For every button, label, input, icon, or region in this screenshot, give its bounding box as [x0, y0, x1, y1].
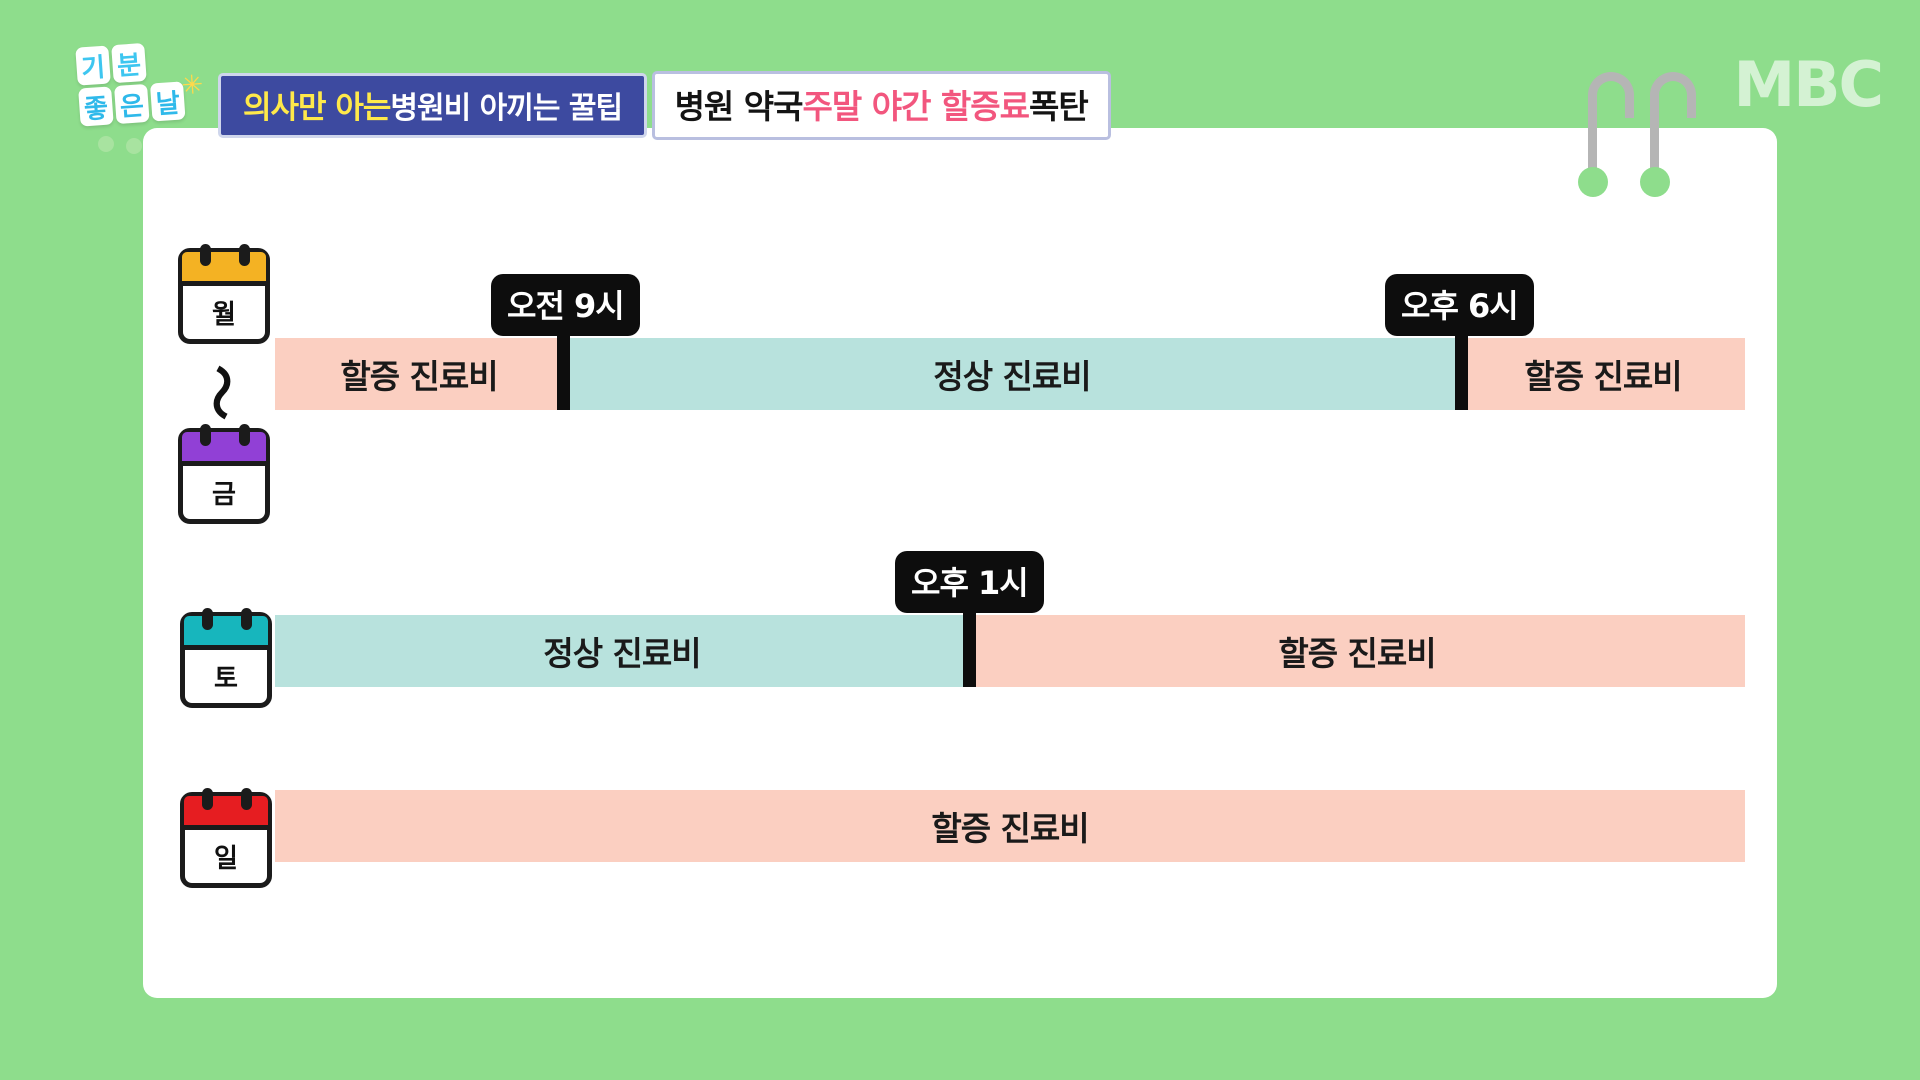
headline-top-banner: 의사만 아는 병원비 아끼는 꿀팁	[218, 73, 647, 138]
logo-tile: 좋	[78, 86, 114, 126]
timeline-bar-weekday: 할증 진료비 정상 진료비 할증 진료비	[275, 338, 1745, 410]
calendar-day-label: 금	[183, 466, 265, 518]
time-marker-label: 오전 9시	[491, 274, 640, 336]
range-tilde-symbol: 〜	[184, 365, 265, 421]
headline-highlight-text: 의사만 아는	[243, 82, 390, 127]
timeline-bar-saturday: 정상 진료비 할증 진료비	[275, 615, 1745, 687]
logo-tile: 은	[114, 84, 150, 124]
calendar-icon-saturday: 토	[180, 612, 272, 708]
calendar-day-label: 월	[183, 286, 265, 338]
segment-surcharge: 할증 진료비	[969, 615, 1745, 687]
segment-surcharge: 할증 진료비	[275, 790, 1745, 862]
headline-sub-text-2: 폭탄	[1029, 80, 1088, 128]
timeline-chart: 월 〜 금 할증 진료비 정상 진료비 할증 진료비 오전 9시 오후 6시 토…	[0, 0, 1920, 1080]
segment-normal: 정상 진료비	[275, 615, 969, 687]
calendar-icon-friday: 금	[178, 428, 270, 524]
calendar-day-label: 토	[185, 650, 267, 702]
calendar-icon-monday: 월	[178, 248, 270, 344]
headline-bottom-banner: 병원 약국 주말 야간 할증료 폭탄	[652, 71, 1111, 140]
time-marker-label: 오후 6시	[1385, 274, 1534, 336]
show-logo: 기 분 좋 은 날 ✳	[75, 40, 185, 129]
sparkle-icon: ✳	[180, 69, 204, 101]
logo-tile: 기	[75, 45, 111, 85]
logo-tile: 분	[111, 43, 147, 83]
segment-surcharge: 할증 진료비	[1461, 338, 1745, 410]
headline-accent-text: 주말 야간 할증료	[803, 80, 1030, 128]
segment-normal: 정상 진료비	[563, 338, 1461, 410]
time-marker-label: 오후 1시	[895, 551, 1044, 613]
segment-surcharge: 할증 진료비	[275, 338, 563, 410]
calendar-icon-sunday: 일	[180, 792, 272, 888]
timeline-bar-sunday: 할증 진료비	[275, 790, 1745, 862]
headline-banners: 의사만 아는 병원비 아끼는 꿀팁 병원 약국 주말 야간 할증료 폭탄	[218, 68, 1111, 140]
calendar-day-label: 일	[185, 830, 267, 882]
headline-main-text: 병원비 아끼는 꿀팁	[390, 83, 622, 127]
logo-tile: 날	[150, 81, 186, 121]
headline-sub-text-1: 병원 약국	[675, 80, 803, 128]
